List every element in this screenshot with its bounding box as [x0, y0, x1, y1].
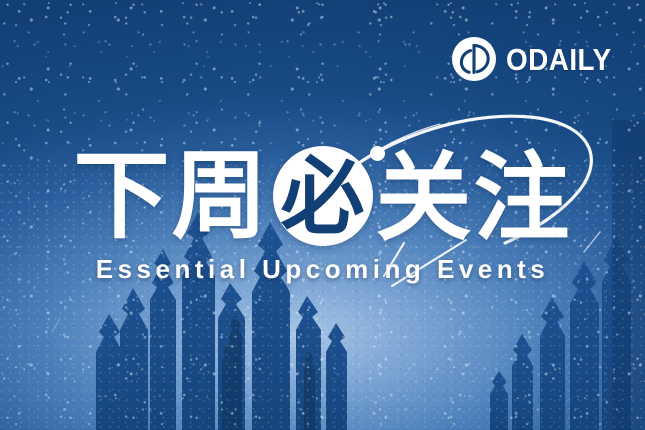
odaily-wordmark: ODAILY	[506, 44, 612, 75]
headline: 下 周 必 关 注	[0, 138, 645, 254]
headline-char-3-label: 必	[280, 155, 364, 239]
headline-char-5: 注	[474, 150, 572, 246]
headline-char-3-badge: 必	[271, 144, 375, 248]
headline-char-2: 周	[172, 148, 270, 244]
odaily-weekly-events-banner: ODAILY 下 周 必 关 注 Essential Upcoming Even…	[0, 0, 645, 430]
odaily-logo[interactable]: ODAILY	[451, 36, 623, 82]
headline-char-1: 下	[74, 148, 172, 244]
subtitle: Essential Upcoming Events	[0, 256, 645, 282]
headline-char-4: 关	[376, 150, 474, 246]
odaily-circle-p-logo-icon	[451, 36, 497, 82]
